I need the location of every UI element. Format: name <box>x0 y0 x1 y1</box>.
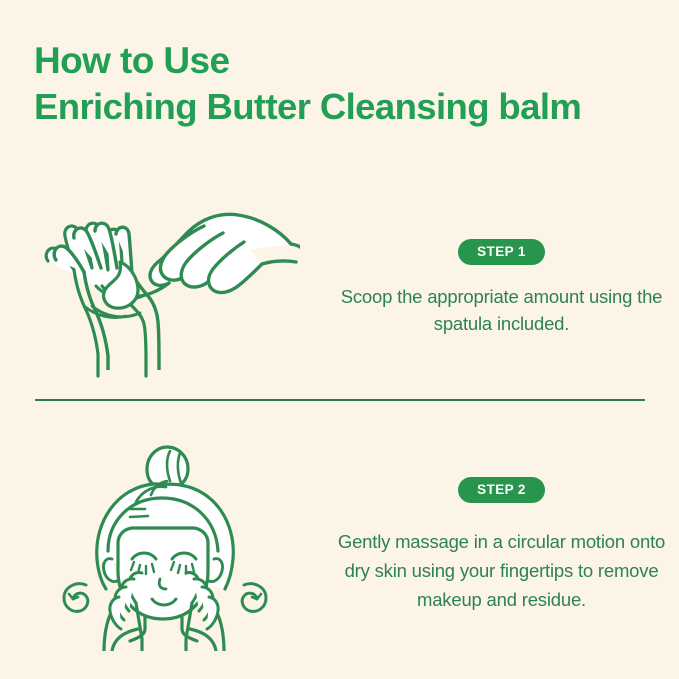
section-divider <box>35 399 645 401</box>
how-to-use-infographic: How to Use Enriching Butter Cleansing ba… <box>0 0 679 679</box>
step-1-text-container: STEP 1 Scoop the appropriate amount usin… <box>330 239 679 337</box>
step-1-description: Scoop the appropriate amount using the s… <box>332 283 672 337</box>
step-2-text-container: STEP 2 Gently massage in a circular moti… <box>330 477 679 614</box>
step-1-hands-detail-icon <box>48 198 300 370</box>
page-title: How to Use Enriching Butter Cleansing ba… <box>34 38 664 130</box>
step-2-description: Gently massage in a circular motion onto… <box>332 527 672 614</box>
woman-face-massaging-with-fingertips-icon <box>50 439 280 651</box>
step-2-badge: STEP 2 <box>458 477 545 503</box>
page-title-line-1: How to Use <box>34 38 664 84</box>
page-title-line-2: Enriching Butter Cleansing balm <box>34 84 664 130</box>
step-2-row: STEP 2 Gently massage in a circular moti… <box>0 430 679 660</box>
step-1-badge: STEP 1 <box>458 239 545 265</box>
step-2-illustration-container <box>0 439 330 651</box>
